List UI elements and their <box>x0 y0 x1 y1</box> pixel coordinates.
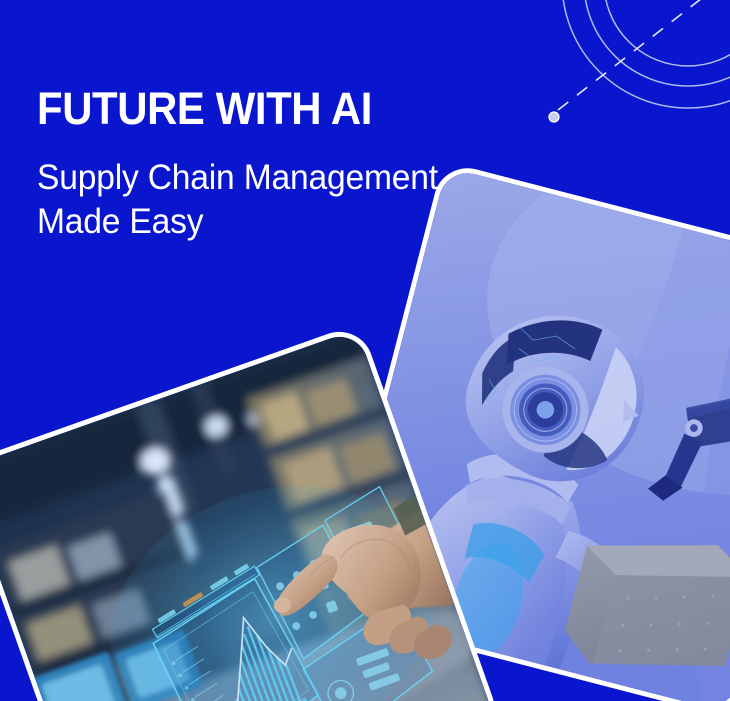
concentric-arcs-icon <box>562 0 730 108</box>
page-subtitle: Supply Chain Management Made Easy <box>37 156 438 245</box>
subtitle-line-2: Made Easy <box>37 200 438 244</box>
decorative-arcs-group <box>510 0 730 200</box>
node-dot-icon <box>549 112 559 122</box>
dashed-diagonal-line-icon <box>558 0 715 110</box>
subtitle-line-1: Supply Chain Management <box>37 156 438 200</box>
hero-banner: FUTURE WITH AI Supply Chain Management M… <box>0 0 730 701</box>
hero-copy: FUTURE WITH AI Supply Chain Management M… <box>37 86 455 245</box>
page-title: FUTURE WITH AI <box>37 86 425 131</box>
